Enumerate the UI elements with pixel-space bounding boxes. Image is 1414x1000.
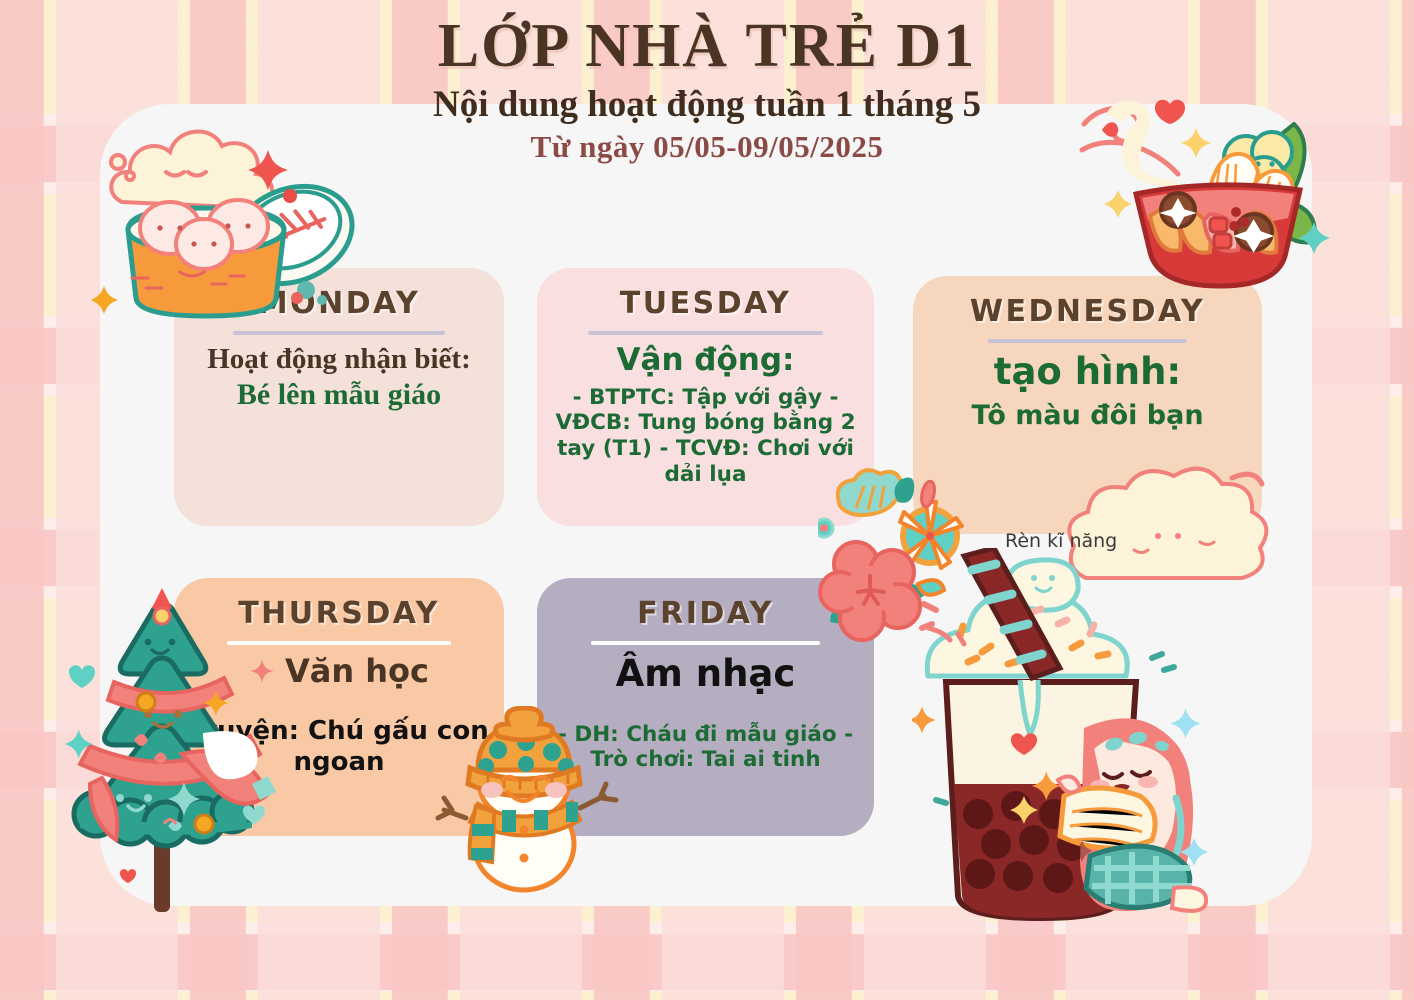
day-body-friday: - DH: Cháu đi mẫu giáo - Trò chơi: Tai a… <box>551 722 860 774</box>
day-title-friday: FRIDAY <box>551 596 860 631</box>
day-lead-thursday-text: Văn học <box>285 653 429 690</box>
day-lead-friday: Âm nhạc <box>551 653 860 696</box>
divider-wednesday <box>988 339 1187 343</box>
day-title-wednesday: WEDNESDAY <box>927 294 1248 329</box>
divider-friday <box>591 641 820 645</box>
day-title-tuesday: TUESDAY <box>551 286 860 321</box>
day-title-monday: MONDAY <box>188 286 490 321</box>
divider-monday <box>233 331 444 335</box>
day-card-tuesday[interactable]: TUESDAY Vận động: - BTPTC: Tập với gậy -… <box>537 268 874 526</box>
divider-tuesday <box>588 331 823 335</box>
day-card-monday[interactable]: MONDAY Hoạt động nhận biết: Bé lên mẫu g… <box>174 268 504 526</box>
day-body-thursday: Truyện: Chú gấu con ngoan <box>188 716 490 778</box>
day-card-friday[interactable]: FRIDAY Âm nhạc - DH: Cháu đi mẫu giáo - … <box>537 578 874 836</box>
day-body-monday: Bé lên mẫu giáo <box>188 377 490 413</box>
sparkle-icon <box>249 658 275 684</box>
day-title-thursday: THURSDAY <box>188 596 490 631</box>
day-lead-monday: Hoạt động nhận biết: <box>188 343 490 376</box>
day-lead-tuesday: Vận động: <box>551 343 860 379</box>
day-body-wednesday: Tô màu đôi bạn <box>927 400 1248 432</box>
day-card-wednesday[interactable]: WEDNESDAY tạo hình: Tô màu đôi bạn <box>913 276 1262 534</box>
day-lead-wednesday: tạo hình: <box>927 351 1248 394</box>
day-lead-thursday: Văn học <box>188 653 490 690</box>
day-body-tuesday: - BTPTC: Tập với gậy - VĐCB: Tung bóng b… <box>551 385 860 488</box>
day-card-thursday[interactable]: THURSDAY Văn học Truyện: Chú gấu con ngo… <box>174 578 504 836</box>
schedule-poster: LỚP NHÀ TRẺ D1 Nội dung hoạt động tuần 1… <box>0 0 1414 1000</box>
divider-thursday <box>227 641 450 645</box>
skill-note: Rèn kĩ năng <box>1005 530 1117 552</box>
